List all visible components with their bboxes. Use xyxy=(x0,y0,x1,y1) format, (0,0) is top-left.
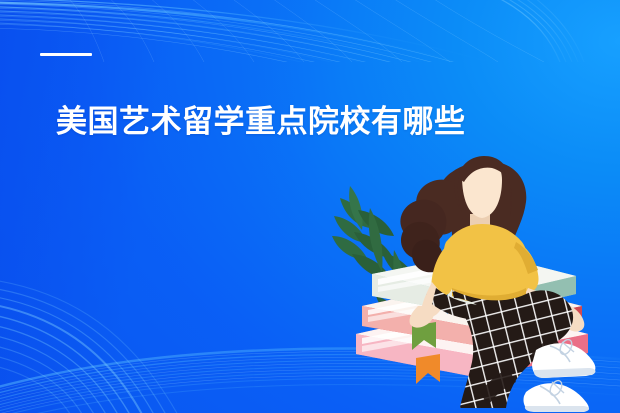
illustration-woman-on-books xyxy=(330,156,620,413)
sneaker-lower-icon xyxy=(524,379,590,412)
wave-group-left xyxy=(0,276,186,413)
page-title: 美国艺术留学重点院校有哪些 xyxy=(56,104,466,140)
banner-image: 美国艺术留学重点院校有哪些 xyxy=(0,0,620,413)
wave-group-top xyxy=(0,0,584,98)
accent-rule xyxy=(40,53,92,56)
bookmark-orange-icon xyxy=(416,354,440,384)
